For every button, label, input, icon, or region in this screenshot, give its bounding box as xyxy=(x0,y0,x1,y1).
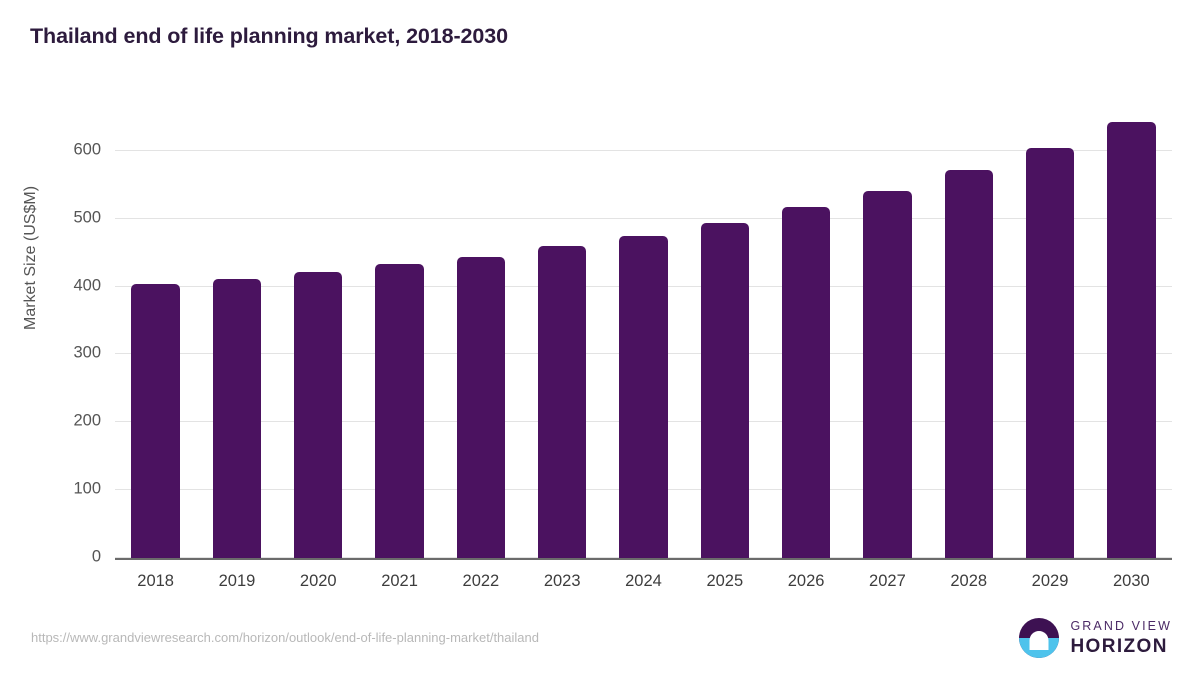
bar-2029[interactable] xyxy=(1026,148,1074,558)
chart-page: Thailand end of life planning market, 20… xyxy=(0,0,1200,675)
x-tick-label-2019: 2019 xyxy=(219,572,256,591)
bar-group-2030[interactable]: 2030 xyxy=(1107,110,1155,558)
y-tick-label: 500 xyxy=(73,208,101,227)
bar-2021[interactable] xyxy=(375,264,423,558)
y-tick-label: 0 xyxy=(92,548,101,567)
bar-group-2028[interactable]: 2028 xyxy=(945,110,993,558)
bar-2025[interactable] xyxy=(701,223,749,558)
grand-view-horizon-sun-icon xyxy=(1019,618,1059,658)
bar-group-2024[interactable]: 2024 xyxy=(619,110,667,558)
bar-2018[interactable] xyxy=(131,284,179,558)
bar-group-2026[interactable]: 2026 xyxy=(782,110,830,558)
source-url[interactable]: https://www.grandviewresearch.com/horizo… xyxy=(31,630,539,645)
y-tick-label: 600 xyxy=(73,140,101,159)
bar-2020[interactable] xyxy=(294,272,342,558)
bar-group-2029[interactable]: 2029 xyxy=(1026,110,1074,558)
x-tick-label-2027: 2027 xyxy=(869,572,906,591)
bar-2023[interactable] xyxy=(538,246,586,558)
y-tick-label: 100 xyxy=(73,480,101,499)
bar-2024[interactable] xyxy=(619,236,667,558)
x-tick-label-2022: 2022 xyxy=(463,572,500,591)
x-tick-label-2021: 2021 xyxy=(381,572,418,591)
logo-line-1: GRAND VIEW xyxy=(1070,620,1172,633)
plot-area: 0100200300400500600 20182019202020212022… xyxy=(115,110,1172,558)
x-tick-label-2018: 2018 xyxy=(137,572,174,591)
bar-2027[interactable] xyxy=(863,191,911,558)
bar-2030[interactable] xyxy=(1107,122,1155,558)
x-tick-label-2025: 2025 xyxy=(706,572,743,591)
y-axis-title: Market Size (US$M) xyxy=(22,186,40,330)
page-title: Thailand end of life planning market, 20… xyxy=(30,24,508,49)
bar-group-2022[interactable]: 2022 xyxy=(457,110,505,558)
bar-2019[interactable] xyxy=(213,279,261,558)
bar-2026[interactable] xyxy=(782,207,830,558)
bar-group-2020[interactable]: 2020 xyxy=(294,110,342,558)
bar-2022[interactable] xyxy=(457,257,505,558)
x-tick-label-2020: 2020 xyxy=(300,572,337,591)
logo-ray-upper xyxy=(1031,642,1047,645)
x-tick-label-2023: 2023 xyxy=(544,572,581,591)
bar-group-2027[interactable]: 2027 xyxy=(863,110,911,558)
bar-series: 2018201920202021202220232024202520262027… xyxy=(115,110,1172,558)
x-tick-label-2024: 2024 xyxy=(625,572,662,591)
logo-wordmark: GRAND VIEW HORIZON xyxy=(1070,620,1172,656)
x-axis-line xyxy=(115,558,1172,560)
bar-group-2023[interactable]: 2023 xyxy=(538,110,586,558)
brand-logo: GRAND VIEW HORIZON xyxy=(1019,618,1172,658)
x-tick-label-2030: 2030 xyxy=(1113,572,1150,591)
bar-group-2018[interactable]: 2018 xyxy=(131,110,179,558)
y-tick-label: 200 xyxy=(73,412,101,431)
y-tick-label: 300 xyxy=(73,344,101,363)
x-tick-label-2028: 2028 xyxy=(950,572,987,591)
logo-line-2: HORIZON xyxy=(1070,637,1172,656)
y-tick-label: 400 xyxy=(73,276,101,295)
bar-group-2025[interactable]: 2025 xyxy=(701,110,749,558)
bar-group-2021[interactable]: 2021 xyxy=(375,110,423,558)
bar-2028[interactable] xyxy=(945,170,993,558)
x-tick-label-2026: 2026 xyxy=(788,572,825,591)
logo-ray-lower xyxy=(1034,646,1045,649)
x-tick-label-2029: 2029 xyxy=(1032,572,1069,591)
bar-group-2019[interactable]: 2019 xyxy=(213,110,261,558)
